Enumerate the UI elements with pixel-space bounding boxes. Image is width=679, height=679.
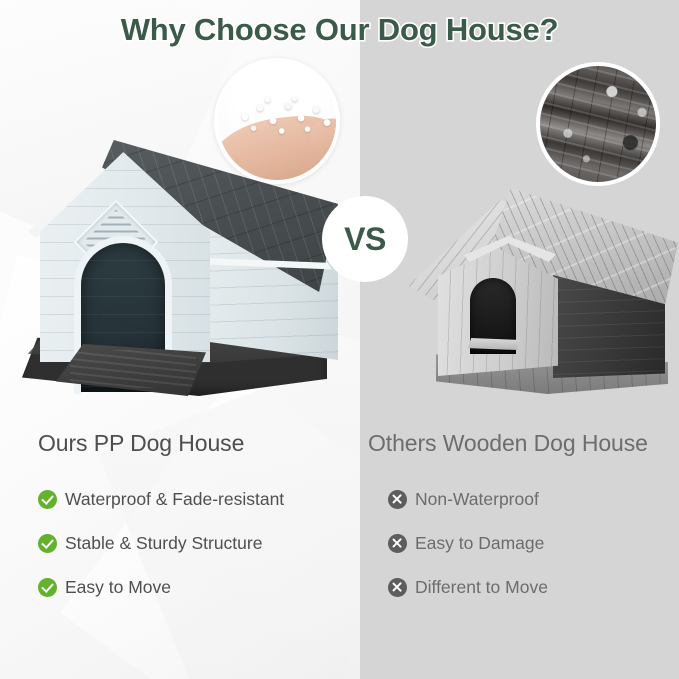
feature-label: Stable & Sturdy Structure bbox=[65, 533, 262, 554]
feature-label: Easy to Move bbox=[65, 577, 171, 598]
list-item: Different to Move bbox=[368, 565, 668, 609]
cross-circle-icon bbox=[388, 490, 407, 509]
comparison-column-ours: Ours PP Dog House Waterproof & Fade-resi… bbox=[38, 430, 348, 609]
check-circle-icon bbox=[38, 490, 57, 509]
list-item: Stable & Sturdy Structure bbox=[38, 521, 348, 565]
feature-label: Different to Move bbox=[415, 577, 548, 598]
others-heading: Others Wooden Dog House bbox=[368, 430, 668, 457]
check-circle-icon bbox=[38, 578, 57, 597]
cross-circle-icon bbox=[388, 578, 407, 597]
feature-label: Easy to Damage bbox=[415, 533, 544, 554]
others-feature-list: Non-Waterproof Easy to Damage Different … bbox=[368, 477, 668, 609]
list-item: Non-Waterproof bbox=[368, 477, 668, 521]
infographic-root: Why Choose Our Dog House? VS Ours PP Do bbox=[0, 0, 679, 679]
pp-pellets-inset-circle bbox=[214, 58, 340, 184]
vs-badge: VS bbox=[322, 196, 408, 282]
feature-label: Non-Waterproof bbox=[415, 489, 539, 510]
list-item: Easy to Move bbox=[38, 565, 348, 609]
check-circle-icon bbox=[38, 534, 57, 553]
list-item: Waterproof & Fade-resistant bbox=[38, 477, 348, 521]
vs-label: VS bbox=[344, 221, 386, 258]
ours-feature-list: Waterproof & Fade-resistant Stable & Stu… bbox=[38, 477, 348, 609]
ours-heading: Ours PP Dog House bbox=[38, 430, 348, 457]
plastic-pellets bbox=[232, 96, 340, 142]
list-item: Easy to Damage bbox=[368, 521, 668, 565]
page-title: Why Choose Our Dog House? bbox=[0, 12, 679, 48]
cross-circle-icon bbox=[388, 534, 407, 553]
damaged-wood-inset-circle bbox=[536, 62, 660, 186]
comparison-column-others: Others Wooden Dog House Non-Waterproof E… bbox=[368, 430, 668, 609]
wood-house-door-sill bbox=[468, 338, 520, 350]
feature-label: Waterproof & Fade-resistant bbox=[65, 489, 284, 510]
